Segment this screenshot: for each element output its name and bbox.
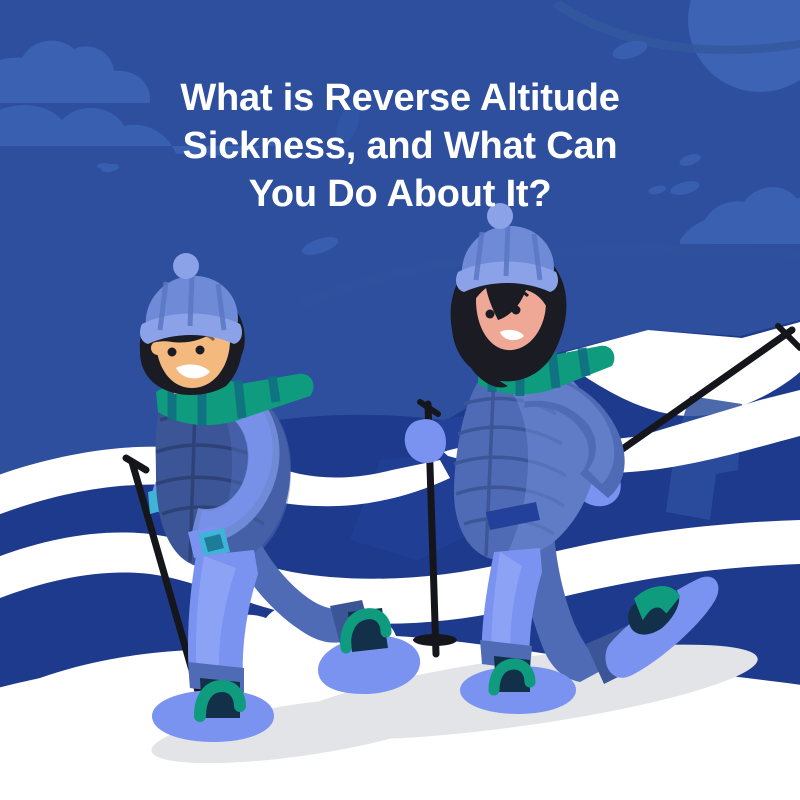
snowshoeing-scene — [0, 0, 800, 800]
female-eye-left — [486, 310, 495, 319]
male-beanie-pompom — [173, 253, 199, 279]
female-beanie-pompom — [487, 203, 513, 229]
illustration-canvas: What is Reverse Altitude Sickness, and W… — [0, 0, 800, 800]
male-ear — [151, 341, 165, 355]
male-eye-right — [196, 346, 205, 355]
female-eye-right — [512, 306, 521, 315]
female-back-boot-strap — [640, 591, 674, 610]
snow-speck — [97, 163, 111, 169]
male-eye-left — [168, 348, 177, 357]
